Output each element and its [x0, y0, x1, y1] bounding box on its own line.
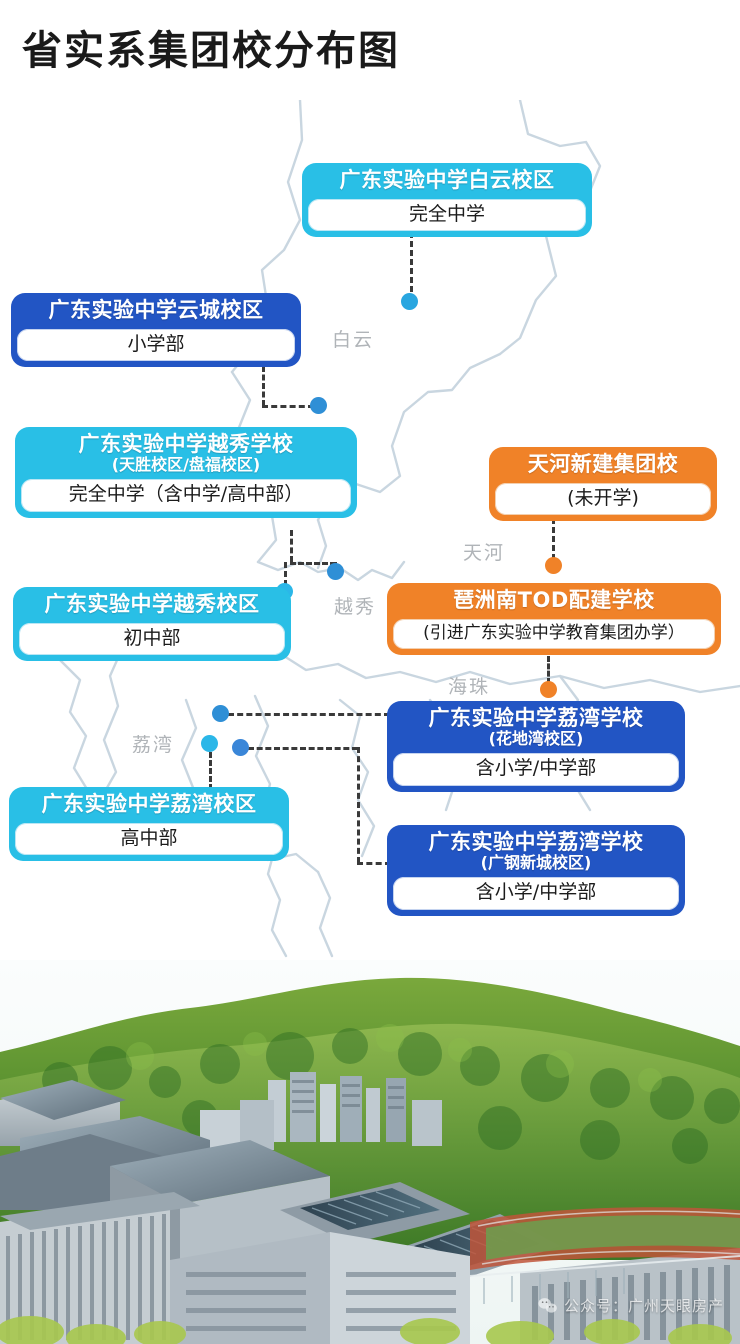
connector-yuncheng-h [262, 405, 314, 408]
callout-liwan-guangang-title: 广东实验中学荔湾学校 [400, 831, 672, 855]
callout-yuncheng-detail: 小学部 [17, 329, 295, 362]
callout-tianhe-new[interactable]: 天河新建集团校 (未开学) [490, 448, 716, 520]
connector-huadiwan [228, 713, 390, 716]
callout-tianhe-new-detail: (未开学) [495, 483, 711, 516]
photo-watermark: 公众号：广州天眼房产 [538, 1295, 724, 1316]
callout-tianhe-new-head: 天河新建集团校 [490, 448, 716, 483]
callout-liwan-huadiwan-head: 广东实验中学荔湾学校 (花地湾校区) [388, 702, 684, 753]
map-dot-yuexiu-school[interactable] [327, 563, 344, 580]
callout-liwan-campus-detail: 高中部 [15, 823, 283, 856]
callout-yuexiu-school-subtitle: (天胜校区/盘福校区) [28, 456, 344, 474]
connector-baiyun [410, 232, 413, 292]
map-dot-huadiwan[interactable] [212, 705, 229, 722]
map-dot-tianhe[interactable] [545, 557, 562, 574]
callout-yuexiu-school-title: 广东实验中学越秀学校 [28, 433, 344, 457]
callout-baiyun[interactable]: 广东实验中学白云校区 完全中学 [303, 164, 591, 236]
callout-pazhou-tod-detail: (引进广东实验中学教育集团办学） [393, 619, 715, 650]
district-label-liwan: 荔湾 [132, 730, 174, 757]
connector-guangang-h2 [357, 862, 391, 865]
callout-yuexiu-campus-head: 广东实验中学越秀校区 [14, 588, 290, 623]
callout-tianhe-new-title: 天河新建集团校 [502, 453, 704, 477]
connector-pazhou [547, 656, 550, 684]
callout-pazhou-tod-title: 琶洲南TOD配建学校 [400, 589, 708, 613]
callout-liwan-guangang-detail: 含小学/中学部 [393, 877, 679, 910]
district-label-yuexiu: 越秀 [334, 592, 376, 619]
connector-guangang-v [357, 747, 360, 863]
wechat-icon [538, 1297, 558, 1314]
campus-aerial-photo: 公众号：广州天眼房产 [0, 960, 740, 1344]
callout-yuexiu-school-head: 广东实验中学越秀学校 (天胜校区/盘福校区) [16, 428, 356, 479]
connector-yuncheng-v [262, 366, 265, 406]
callout-yuncheng-head: 广东实验中学云城校区 [12, 294, 300, 329]
callout-liwan-campus-title: 广东实验中学荔湾校区 [22, 793, 276, 817]
callout-baiyun-head: 广东实验中学白云校区 [303, 164, 591, 199]
callout-yuexiu-campus[interactable]: 广东实验中学越秀校区 初中部 [14, 588, 290, 660]
page-title: 省实系集团校分布图 [22, 18, 400, 76]
infographic-page: 省实系集团校分布图 [0, 0, 740, 1344]
connector-liwan-campus [209, 752, 212, 790]
district-label-tianhe: 天河 [463, 538, 505, 565]
district-label-baiyun: 白云 [332, 325, 374, 352]
callout-liwan-huadiwan[interactable]: 广东实验中学荔湾学校 (花地湾校区) 含小学/中学部 [388, 702, 684, 791]
map-dot-baiyun[interactable] [401, 293, 418, 310]
callout-liwan-campus[interactable]: 广东实验中学荔湾校区 高中部 [10, 788, 288, 860]
callout-liwan-huadiwan-detail: 含小学/中学部 [393, 753, 679, 786]
callout-yuncheng-title: 广东实验中学云城校区 [24, 299, 288, 323]
district-label-haizhu: 海珠 [448, 672, 490, 699]
callout-yuexiu-campus-detail: 初中部 [19, 623, 285, 656]
callout-yuexiu-school[interactable]: 广东实验中学越秀学校 (天胜校区/盘福校区) 完全中学（含中学/高中部） [16, 428, 356, 517]
callout-liwan-huadiwan-subtitle: (花地湾校区) [400, 730, 672, 748]
callout-liwan-campus-head: 广东实验中学荔湾校区 [10, 788, 288, 823]
callout-yuexiu-school-detail: 完全中学（含中学/高中部） [21, 479, 351, 512]
callout-pazhou-tod-head: 琶洲南TOD配建学校 [388, 584, 720, 619]
callout-baiyun-title: 广东实验中学白云校区 [315, 169, 579, 193]
callout-liwan-huadiwan-title: 广东实验中学荔湾学校 [400, 707, 672, 731]
callout-liwan-guangang-head: 广东实验中学荔湾学校 (广钢新城校区) [388, 826, 684, 877]
map-dot-guangang[interactable] [232, 739, 249, 756]
connector-yuexiu-school-v1 [290, 530, 293, 562]
callout-yuncheng[interactable]: 广东实验中学云城校区 小学部 [12, 294, 300, 366]
callout-baiyun-detail: 完全中学 [308, 199, 586, 232]
callout-pazhou-tod[interactable]: 琶洲南TOD配建学校 (引进广东实验中学教育集团办学） [388, 584, 720, 654]
connector-guangang-h1 [248, 747, 358, 750]
map-dot-liwan-campus[interactable] [201, 735, 218, 752]
watermark-text: 公众号：广州天眼房产 [564, 1295, 724, 1316]
map-dot-yuncheng[interactable] [310, 397, 327, 414]
map-dot-pazhou[interactable] [540, 681, 557, 698]
connector-tianhe [552, 518, 555, 560]
callout-liwan-guangang[interactable]: 广东实验中学荔湾学校 (广钢新城校区) 含小学/中学部 [388, 826, 684, 915]
callout-yuexiu-campus-title: 广东实验中学越秀校区 [26, 593, 278, 617]
callout-liwan-guangang-subtitle: (广钢新城校区) [400, 854, 672, 872]
